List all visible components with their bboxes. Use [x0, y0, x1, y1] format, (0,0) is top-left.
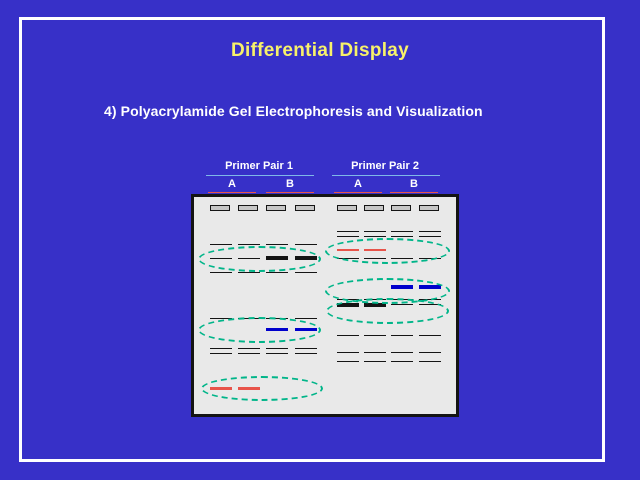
gel-well [238, 205, 258, 211]
gel-band [337, 258, 359, 259]
gel-band [337, 249, 359, 251]
gel-band [266, 256, 288, 260]
gel-band [238, 348, 260, 349]
page-title: Differential Display [0, 40, 640, 62]
gel-band [364, 352, 386, 353]
gel-band [364, 361, 386, 362]
gel-band [210, 353, 232, 354]
gel-band [391, 335, 413, 336]
gel-band [266, 353, 288, 354]
gel-well [364, 205, 384, 211]
lane-rule-pair1-b [266, 192, 314, 193]
gel-band [364, 258, 386, 259]
gel-band [419, 285, 441, 289]
primer-pair-2-rule [332, 175, 440, 176]
gel-band [391, 285, 413, 289]
gel-band [391, 299, 413, 300]
primer-pair-2-header: Primer Pair 2 [330, 160, 440, 172]
gel-band [210, 387, 232, 390]
gel-band [266, 244, 288, 245]
gel-band [266, 272, 288, 273]
gel-band [210, 244, 232, 245]
lane-rule-pair2-b [390, 192, 438, 193]
gel-band [266, 318, 288, 319]
gel-band [238, 244, 260, 245]
gel-band [391, 304, 413, 305]
gel-band [419, 258, 441, 259]
gel-band [210, 272, 232, 273]
gel-band [391, 352, 413, 353]
gel-band [295, 272, 317, 273]
gel-plate [191, 194, 459, 417]
gel-band [337, 236, 359, 237]
gel-well [295, 205, 315, 211]
gel-band [391, 361, 413, 362]
primer-pair-1-header: Primer Pair 1 [204, 160, 314, 172]
lane-label-pair2-b: B [390, 178, 438, 190]
gel-band [337, 231, 359, 232]
gel-band [364, 231, 386, 232]
gel-band [419, 361, 441, 362]
gel-band [419, 236, 441, 237]
lane-rule-pair2-a [334, 192, 382, 193]
gel-band [337, 361, 359, 362]
gel-band [266, 328, 288, 331]
gel-well [391, 205, 411, 211]
gel-band [391, 231, 413, 232]
gel-band [238, 258, 260, 259]
gel-band [210, 258, 232, 259]
gel-band [238, 272, 260, 273]
gel-band [364, 249, 386, 251]
gel-band [419, 231, 441, 232]
gel-band [337, 299, 359, 300]
gel-band [337, 335, 359, 336]
gel-well [210, 205, 230, 211]
gel-band [419, 299, 441, 300]
gel-band [295, 318, 317, 319]
gel-band [266, 348, 288, 349]
gel-band [238, 353, 260, 354]
gel-well [337, 205, 357, 211]
primer-pair-1-rule [206, 175, 314, 176]
gel-band [391, 236, 413, 237]
slide-subtitle: 4) Polyacrylamide Gel Electrophoresis an… [104, 103, 574, 119]
lane-rule-pair1-a [208, 192, 256, 193]
gel-band [210, 318, 232, 319]
gel-band [295, 353, 317, 354]
gel-band [337, 303, 359, 307]
gel-band [364, 303, 386, 307]
lane-label-pair1-a: A [208, 178, 256, 190]
gel-band [295, 328, 317, 331]
gel-band [337, 352, 359, 353]
gel-band [419, 352, 441, 353]
gel-well [266, 205, 286, 211]
gel-band [295, 244, 317, 245]
slide: Differential Display 4) Polyacrylamide G… [0, 0, 640, 480]
gel-band [364, 335, 386, 336]
gel-band [419, 335, 441, 336]
gel-band [210, 348, 232, 349]
gel-band [364, 299, 386, 300]
gel-well [419, 205, 439, 211]
gel-band [295, 256, 317, 260]
gel-band [391, 258, 413, 259]
gel-band [238, 318, 260, 319]
gel-band [295, 348, 317, 349]
lane-label-pair2-a: A [334, 178, 382, 190]
gel-band [238, 387, 260, 390]
gel-band [364, 236, 386, 237]
gel-band [419, 304, 441, 305]
lane-label-pair1-b: B [266, 178, 314, 190]
